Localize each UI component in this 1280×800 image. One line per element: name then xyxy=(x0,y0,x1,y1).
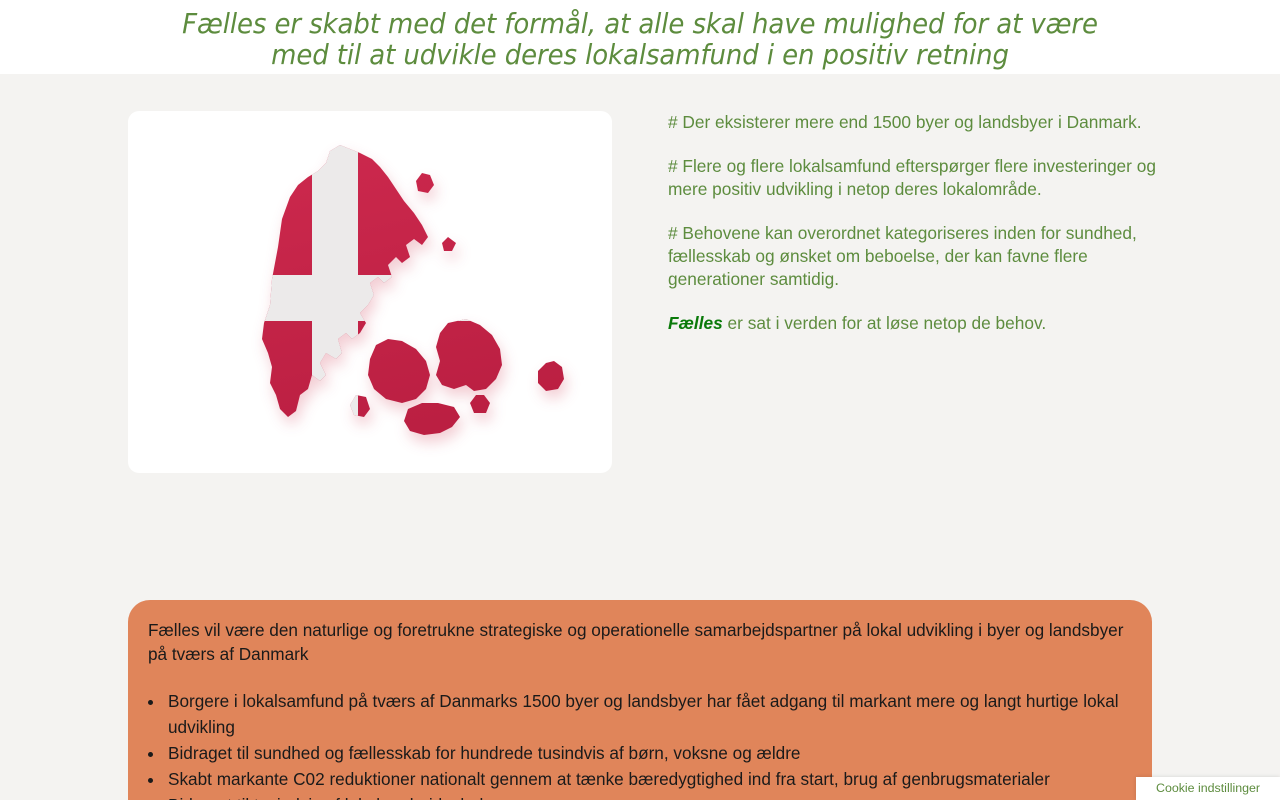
denmark-flag-map-icon xyxy=(128,111,612,473)
page-title: Fælles er skabt med det formål, at alle … xyxy=(156,9,1124,71)
cookie-settings-button[interactable]: Cookie indstillinger xyxy=(1136,777,1280,800)
vision-panel: Fælles vil være den naturlige og foretru… xyxy=(128,600,1152,800)
page-root: Fælles er skabt med det formål, at alle … xyxy=(0,0,1280,800)
brand-name: Fælles xyxy=(668,313,723,333)
vision-panel-list: Borgere i lokalsamfund på tværs af Danma… xyxy=(148,688,1124,800)
intro-paragraph-3: # Behovene kan overordnet kategoriseres … xyxy=(668,222,1160,291)
intro-text-column: # Der eksisterer mere end 1500 byer og l… xyxy=(668,111,1160,335)
intro-closing-rest: er sat i verden for at løse netop de beh… xyxy=(723,313,1046,333)
list-item: Borgere i lokalsamfund på tværs af Danma… xyxy=(165,688,1124,740)
list-item: Bidraget til sundhed og fællesskab for h… xyxy=(165,740,1124,766)
list-item: Bidraget til tusindvis af lokale arbejds… xyxy=(165,792,1124,800)
intro-closing-line: Fælles er sat i verden for at løse netop… xyxy=(668,312,1160,335)
intro-section: # Der eksisterer mere end 1500 byer og l… xyxy=(128,111,1152,476)
vision-panel-lead: Fælles vil være den naturlige og foretru… xyxy=(148,618,1124,666)
map-card xyxy=(128,111,612,473)
intro-paragraph-2: # Flere og flere lokalsamfund efterspørg… xyxy=(668,155,1160,201)
list-item: Skabt markante C02 reduktioner nationalt… xyxy=(165,766,1124,792)
intro-paragraph-1: # Der eksisterer mere end 1500 byer og l… xyxy=(668,111,1160,134)
